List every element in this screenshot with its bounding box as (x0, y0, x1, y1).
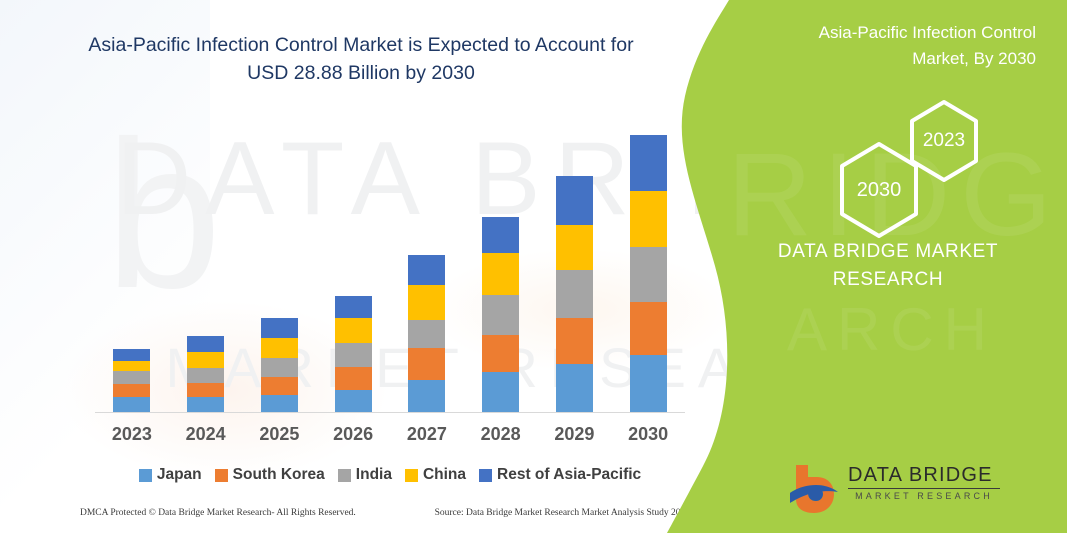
legend-swatch (405, 469, 418, 482)
bar-segment[interactable] (482, 295, 519, 335)
chart-plot-area (95, 120, 685, 413)
infographic-canvas: b DATA BRIDGE MARKET RESEARCH Asia-Pacif… (0, 0, 1067, 533)
bar-group[interactable] (318, 120, 388, 412)
bar-segment[interactable] (630, 135, 667, 191)
bar-segment[interactable] (187, 368, 224, 383)
legend-label: South Korea (233, 466, 325, 484)
bar-segment[interactable] (187, 336, 224, 352)
legend-label: Japan (157, 466, 202, 484)
bar-segment[interactable] (630, 355, 667, 412)
footer-source: Source: Data Bridge Market Research Mark… (435, 508, 690, 518)
bar-segment[interactable] (187, 352, 224, 368)
legend-item[interactable]: South Korea (215, 466, 325, 484)
legend-swatch (215, 469, 228, 482)
bar-segment[interactable] (556, 364, 593, 412)
bar-segment[interactable] (335, 296, 372, 318)
bar-series-container (95, 120, 685, 412)
bar-segment[interactable] (113, 361, 150, 371)
bar-segment[interactable] (408, 255, 445, 285)
bar-segment[interactable] (261, 377, 298, 395)
hexagon-badge-2023-label: 2023 (923, 130, 965, 152)
bar-segment[interactable] (187, 397, 224, 412)
legend-label: China (423, 466, 466, 484)
bar-segment[interactable] (335, 318, 372, 343)
x-axis-label: 2029 (539, 424, 609, 445)
x-axis-label: 2023 (97, 424, 167, 445)
dbmr-logo-divider (848, 488, 1000, 489)
bar-segment[interactable] (335, 367, 372, 390)
legend-item[interactable]: Rest of Asia-Pacific (479, 466, 641, 484)
dbmr-logo-mark-icon (786, 459, 844, 517)
bar-segment[interactable] (482, 372, 519, 412)
legend-item[interactable]: China (405, 466, 466, 484)
bar-segment[interactable] (113, 349, 150, 361)
dbmr-logo-line-1: DATA BRIDGE (848, 465, 1000, 486)
x-axis-label: 2024 (171, 424, 241, 445)
footer: DMCA Protected © Data Bridge Market Rese… (80, 508, 690, 518)
bar-segment[interactable] (482, 253, 519, 295)
stacked-bar[interactable] (261, 318, 298, 412)
legend-swatch (338, 469, 351, 482)
bar-segment[interactable] (113, 384, 150, 397)
bar-segment[interactable] (556, 318, 593, 364)
bar-segment[interactable] (261, 358, 298, 377)
dbmr-logo-line-2: MARKET RESEARCH (848, 491, 1000, 501)
hexagon-badge-2030-label: 2030 (857, 179, 902, 202)
bar-group[interactable] (244, 120, 314, 412)
bar-segment[interactable] (261, 318, 298, 338)
bar-group[interactable] (613, 120, 683, 412)
bar-segment[interactable] (482, 217, 519, 253)
brand-panel-content: Asia-Pacific Infection Control Market, B… (700, 0, 1067, 533)
bar-segment[interactable] (408, 285, 445, 320)
bar-segment[interactable] (408, 320, 445, 348)
bar-segment[interactable] (556, 176, 593, 225)
chart-legend: JapanSouth KoreaIndiaChinaRest of Asia-P… (95, 466, 685, 484)
stacked-bar[interactable] (335, 296, 372, 412)
footer-copyright: DMCA Protected © Data Bridge Market Rese… (80, 508, 356, 518)
bar-segment[interactable] (261, 338, 298, 358)
bar-segment[interactable] (630, 302, 667, 355)
dbmr-logo: DATA BRIDGE MARKET RESEARCH (708, 455, 1058, 525)
bar-segment[interactable] (113, 371, 150, 384)
legend-swatch (479, 469, 492, 482)
stacked-bar[interactable] (113, 349, 150, 412)
bar-segment[interactable] (113, 397, 150, 412)
bar-group[interactable] (466, 120, 536, 412)
bar-segment[interactable] (408, 380, 445, 412)
bar-segment[interactable] (556, 270, 593, 318)
x-axis-labels: 20232024202520262027202820292030 (95, 424, 685, 445)
stacked-bar[interactable] (408, 255, 445, 412)
bar-segment[interactable] (482, 335, 519, 372)
bar-group[interactable] (97, 120, 167, 412)
bar-segment[interactable] (335, 390, 372, 412)
bar-segment[interactable] (630, 247, 667, 302)
x-axis-label: 2025 (244, 424, 314, 445)
stacked-bar[interactable] (630, 135, 667, 412)
bar-segment[interactable] (335, 343, 372, 367)
x-axis-label: 2026 (318, 424, 388, 445)
legend-label: India (356, 466, 392, 484)
bar-segment[interactable] (630, 191, 667, 247)
bar-segment[interactable] (187, 383, 224, 397)
bar-group[interactable] (392, 120, 462, 412)
stacked-bar[interactable] (556, 176, 593, 412)
dbmr-logo-text: DATA BRIDGE MARKET RESEARCH (848, 465, 1000, 501)
panel-title: Asia-Pacific Infection Control Market, B… (768, 20, 1036, 71)
panel-brand-text: DATA BRIDGE MARKET RESEARCH (738, 238, 1038, 293)
hexagon-badge-2023: 2023 (905, 98, 983, 184)
chart-title: Asia-Pacific Infection Control Market is… (66, 32, 656, 87)
legend-swatch (139, 469, 152, 482)
stacked-bar[interactable] (482, 217, 519, 412)
bar-group[interactable] (171, 120, 241, 412)
x-axis-label: 2027 (392, 424, 462, 445)
bar-segment[interactable] (408, 348, 445, 380)
x-axis-label: 2030 (613, 424, 683, 445)
stacked-bar[interactable] (187, 336, 224, 412)
legend-item[interactable]: Japan (139, 466, 202, 484)
bar-segment[interactable] (556, 225, 593, 270)
bar-segment[interactable] (261, 395, 298, 412)
x-axis-label: 2028 (466, 424, 536, 445)
legend-label: Rest of Asia-Pacific (497, 466, 641, 484)
x-axis-line (95, 412, 685, 413)
legend-item[interactable]: India (338, 466, 392, 484)
bar-group[interactable] (539, 120, 609, 412)
